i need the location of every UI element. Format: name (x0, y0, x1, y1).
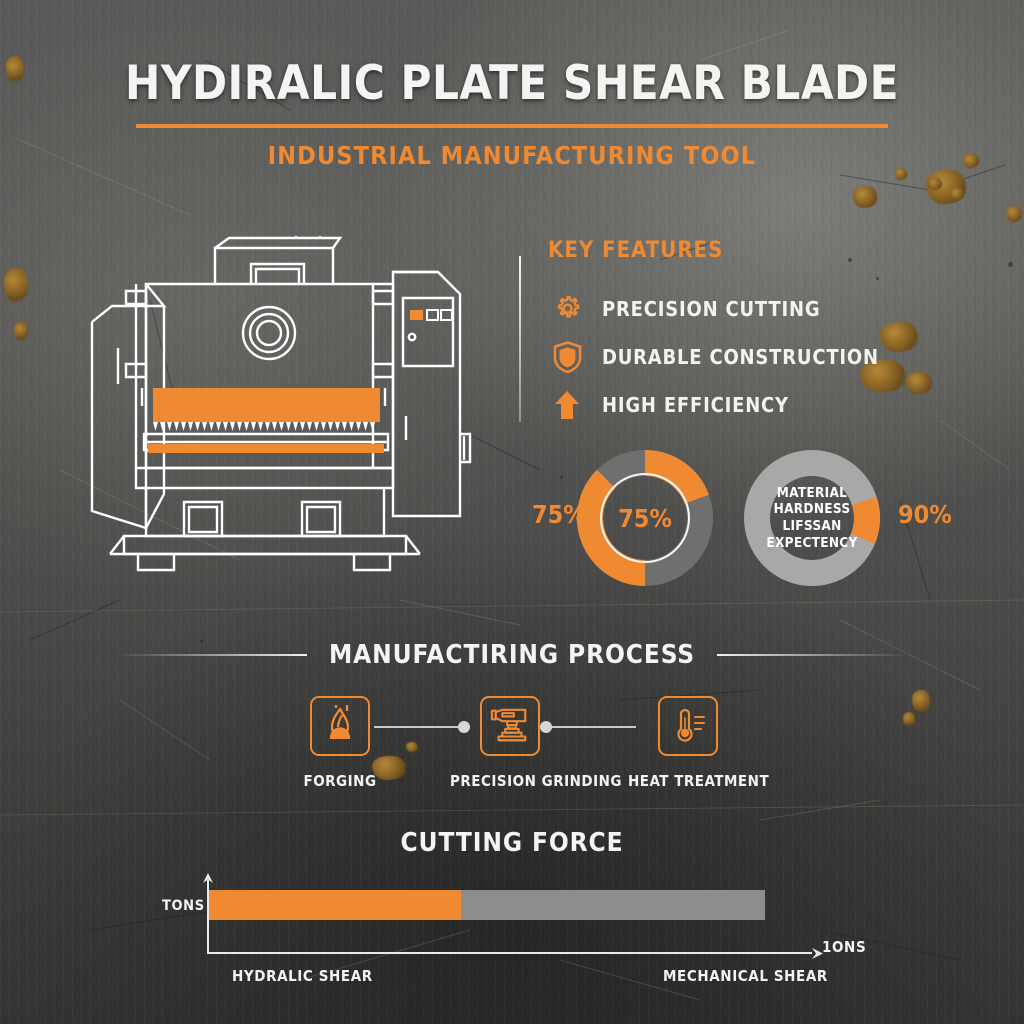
key-feature-label: DURABLE CONSTRUCTION (602, 345, 879, 369)
y-axis-arrow (200, 872, 218, 888)
background-speck (1008, 262, 1013, 267)
material-hardness-line-2: HARDNESS (774, 501, 851, 518)
bar-category-label-mechanical: MECHANICAL SHEAR (663, 967, 828, 985)
donut-charts-group: 75% 75% MATERIAL (520, 440, 970, 600)
arrow-up-icon (546, 390, 588, 420)
process-step-label: PRECISION GRINDING (450, 772, 570, 790)
hydraulic-plate-shear-machine-illustration (88, 236, 508, 586)
rust-spot (4, 268, 28, 302)
process-heading-text: MANUFACTIRING PROCESS (307, 640, 717, 670)
process-step-label: HEAT TREATMENT (628, 772, 748, 790)
material-hardness-line-4: EXPECTENCY (766, 535, 857, 552)
thermometer-icon (658, 696, 718, 756)
cutting-force-title: CUTTING FORCE (0, 828, 1024, 858)
x-axis-line (207, 952, 812, 954)
panel-indicator (427, 310, 438, 320)
process-steps: FORGING (288, 696, 748, 796)
key-feature-item-precision-cutting: PRECISION CUTTING (546, 285, 966, 332)
key-feature-label: HIGH EFFICIENCY (602, 393, 789, 417)
shield-icon (546, 341, 588, 373)
bar-category-label-hydralic: HYDRALIC SHEAR (232, 967, 373, 985)
gear-icon (546, 293, 588, 324)
machine-lower-strip (148, 444, 384, 453)
x-axis-label: 1ONS (822, 938, 866, 956)
infographic-canvas: HYDIRALIC PLATE SHEAR BLADE INDUSTRIAL M… (0, 0, 1024, 1024)
section-divider-vertical (519, 256, 521, 422)
material-hardness-donut-center: MATERIAL HARDNESS LIFSSAN EXPECTENCY (742, 448, 882, 588)
header: HYDIRALIC PLATE SHEAR BLADE INDUSTRIAL M… (0, 60, 1024, 170)
key-features-section: KEY FEATURES PRECISION CUTTING (546, 238, 966, 429)
key-feature-item-high-efficiency: HIGH EFFICIENCY (546, 381, 966, 428)
cutting-force-plot: TONS 1ONS HYDRALIC SHEAR MECHANICAL SHEA… (0, 866, 1024, 962)
heading-rule-right (717, 654, 907, 656)
process-step-heat-treatment[interactable]: HEAT TREATMENT (628, 696, 748, 790)
performance-donut: 75% (575, 448, 715, 588)
process-step-precision-grinding[interactable]: PRECISION GRINDING (450, 696, 570, 790)
panel-indicator-active (410, 310, 423, 320)
key-feature-label: PRECISION CUTTING (602, 297, 820, 321)
process-section-heading: MANUFACTIRING PROCESS (0, 640, 1024, 670)
rust-spot (853, 186, 877, 208)
rust-spot (1006, 206, 1022, 222)
rust-spot (903, 712, 915, 726)
key-features-list: PRECISION CUTTING DURABLE CONSTRUCTION (546, 285, 966, 428)
machine-blade (153, 388, 380, 422)
performance-donut-center: 75% (575, 448, 715, 588)
performance-donut-center-label: 75% (618, 504, 672, 533)
heading-rule-left (117, 654, 307, 656)
cutting-force-chart: CUTTING FORCE TONS 1ONS HYDRALIC SHEAR M… (0, 828, 1024, 958)
y-axis-label: TONS (162, 898, 205, 914)
rust-spot (950, 188, 964, 200)
page-subtitle: INDUSTRIAL MANUFACTURING TOOL (0, 141, 1024, 170)
cutting-force-bar-hydralic (209, 890, 461, 920)
process-step-forging[interactable]: FORGING (280, 696, 400, 790)
key-feature-item-durable-construction: DURABLE CONSTRUCTION (546, 333, 966, 380)
rust-spot (928, 178, 942, 190)
title-underline (136, 124, 888, 128)
page-title: HYDIRALIC PLATE SHEAR BLADE (0, 60, 1024, 107)
furnace-fire-icon (310, 696, 370, 756)
rust-spot (912, 690, 930, 712)
material-hardness-line-3: LIFSSAN (782, 518, 841, 535)
key-features-heading: KEY FEATURES (548, 238, 966, 263)
panel-indicator (441, 310, 452, 320)
grinding-machine-icon (480, 696, 540, 756)
cutting-force-bar-mechanical (461, 890, 765, 920)
material-hardness-side-label: 90% (898, 500, 952, 529)
process-step-label: FORGING (280, 772, 400, 790)
machine-illustration-container (88, 236, 508, 590)
material-hardness-donut: MATERIAL HARDNESS LIFSSAN EXPECTENCY (742, 448, 882, 588)
rust-spot (14, 322, 28, 340)
material-hardness-line-1: MATERIAL (777, 485, 847, 502)
